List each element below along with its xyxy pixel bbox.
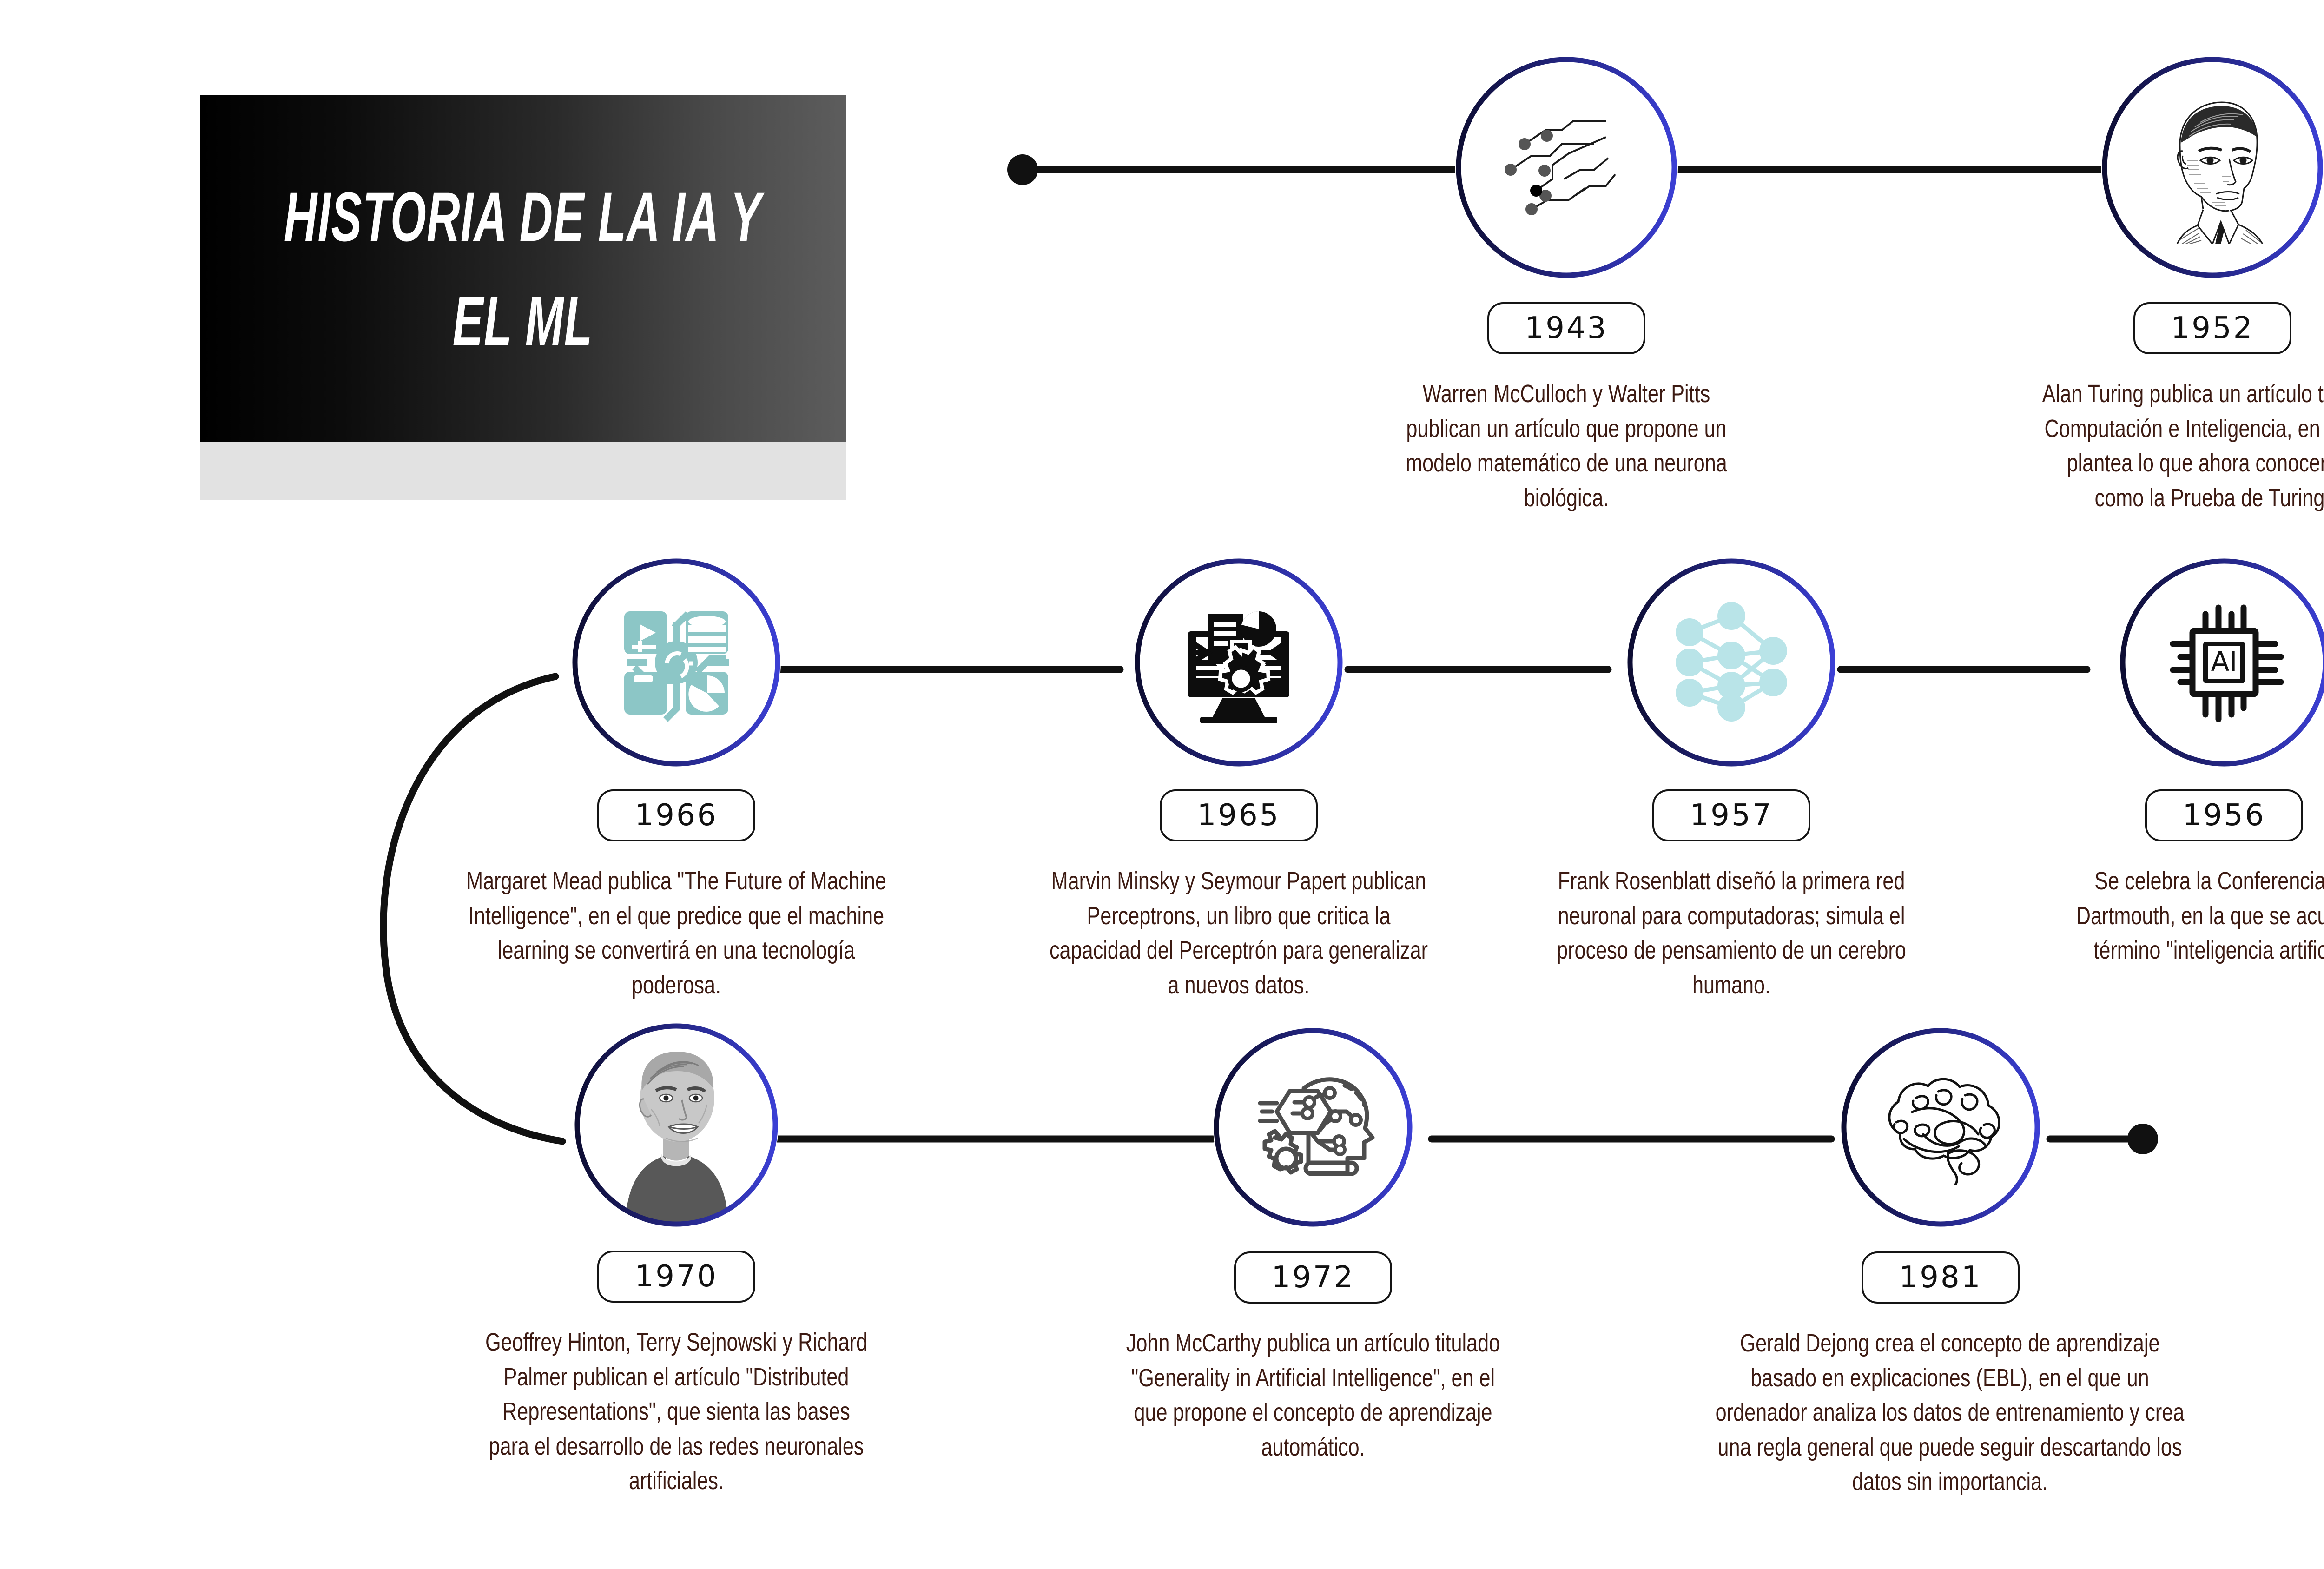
ai-head-circuit-icon [1213,1027,1413,1227]
year-badge-1981: 1981 [1862,1251,2020,1304]
year-label: 1972 [1272,1260,1355,1295]
brain-outline-icon [1841,1027,2040,1227]
event-description-1956: Se celebra la Conferencia de Dartmouth, … [2059,864,2324,968]
year-badge-1965: 1965 [1160,789,1318,841]
event-description-1965: Marvin Minsky y Seymour Papert publican … [1047,864,1430,1002]
node-ring [1455,56,1678,279]
year-label: 1965 [1197,798,1281,833]
node-ring [1841,1027,2040,1227]
timeline-node-1956[interactable]: AI 1956 Se celebra la Conferencia de Dar… [2119,558,2324,767]
computer-gear-data-icon [1134,558,1343,767]
event-description-1952: Alan Turing publica un artículo titulado… [2041,377,2324,515]
year-badge-1956: 1956 [2145,789,2303,841]
event-description-1943: Warren McCulloch y Walter Pitts publican… [1403,377,1730,515]
page-title-line-1: HISTORIA DE LA IA Y [284,178,762,256]
node-ring [1213,1027,1413,1227]
title-card: HISTORIA DE LA IA Y EL ML [200,95,846,500]
timeline-node-1972[interactable]: 1972 John McCarthy publica un artículo t… [1213,1027,1413,1227]
year-label: 1966 [635,798,718,833]
year-label: 1952 [2171,311,2254,345]
year-badge-1957: 1957 [1652,789,1810,841]
svg-text:AI: AI [2211,646,2238,677]
page-title-line-2: EL ML [453,282,593,360]
year-badge-1970: 1970 [597,1251,755,1303]
event-description-1972: John McCarthy publica un artículo titula… [1125,1326,1501,1464]
timeline-end-dot [2127,1124,2158,1154]
timeline-node-1970[interactable]: 1970 Geoffrey Hinton, Terry Sejnowski y … [574,1023,779,1227]
event-description-1966: Margaret Mead publica "The Future of Mac… [462,864,890,1002]
circuit-nodes-icon [1455,56,1678,279]
alan-turing-portrait-icon [2101,56,2324,279]
timeline-node-1952[interactable]: 1952 Alan Turing publica un artículo tit… [2101,56,2324,279]
year-badge-1943: 1943 [1487,302,1645,354]
ai-microchip-icon: AI [2119,558,2324,767]
node-ring [1134,558,1343,767]
title-card-gradient: HISTORIA DE LA IA Y EL ML [200,95,846,442]
node-ring: AI [2119,558,2324,767]
year-label: 1956 [2183,798,2266,833]
node-ring [1627,558,1836,767]
timeline-node-1981[interactable]: 1981 Gerald Dejong crea el concepto de a… [1841,1027,2040,1227]
event-description-1957: Frank Rosenblatt diseñó la primera red n… [1544,864,1919,1002]
year-badge-1966: 1966 [597,789,755,841]
year-label: 1970 [635,1259,718,1294]
timeline-node-1957[interactable]: 1957 Frank Rosenblatt diseñó la primera … [1627,558,1836,767]
timeline-start-dot [1007,154,1038,185]
year-label: 1957 [1690,798,1773,833]
node-ring [2101,56,2324,279]
year-badge-1952: 1952 [2133,302,2291,354]
year-badge-1972: 1972 [1234,1251,1392,1304]
node-ring [574,1023,779,1227]
timeline-node-1966[interactable]: 1966 Margaret Mead publica "The Future o… [572,558,781,767]
machine-learning-grid-icon [572,558,781,767]
node-ring [572,558,781,767]
timeline-infographic: HISTORIA DE LA IA Y EL ML [0,0,2324,1569]
neural-network-icon [1627,558,1836,767]
event-description-1981: Gerald Dejong crea el concepto de aprend… [1714,1326,2186,1499]
timeline-node-1943[interactable]: 1943 Warren McCulloch y Walter Pitts pub… [1455,56,1678,279]
year-label: 1981 [1899,1260,1982,1295]
year-label: 1943 [1525,311,1608,345]
event-description-1970: Geoffrey Hinton, Terry Sejnowski y Richa… [483,1325,870,1498]
timeline-node-1965[interactable]: 1965 Marvin Minsky y Seymour Papert publ… [1134,558,1343,767]
